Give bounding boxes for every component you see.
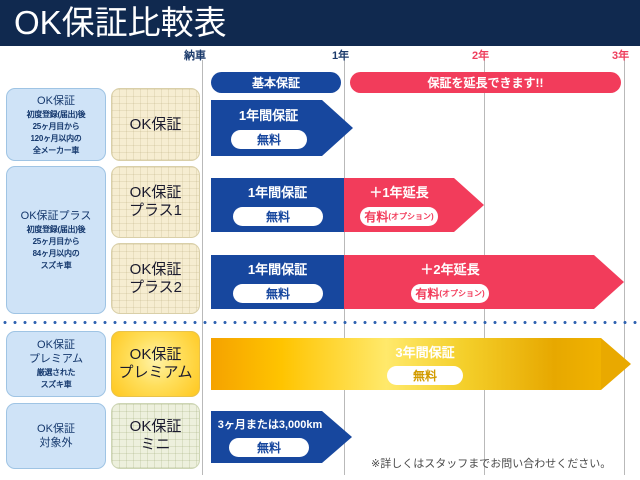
footnote-text: ※詳しくはスタッフまでお問い合わせください。 <box>371 455 611 471</box>
bar-chip-text-free-plus1: 無料 <box>266 208 290 225</box>
category-cond-plus-2: 25ヶ月目から <box>33 237 80 247</box>
bar-chip-paid-plus2: 有料(オプション) <box>411 284 489 303</box>
bar-label-free-plus1: 1年間保証 <box>211 185 344 200</box>
plan-name-ok-1: OK保証 <box>130 116 182 134</box>
plan-box-mini: OK保証 ミニ <box>111 403 200 469</box>
category-name-plus: OK保証プラス <box>21 209 92 223</box>
plan-box-plus1: OK保証 プラス1 <box>111 166 200 238</box>
bar-chip-paid-plus1: 有料(オプション) <box>360 207 438 226</box>
plan-name-mini-2: ミニ <box>140 436 170 454</box>
bar-chip-opt-plus2: (オプション) <box>439 288 484 299</box>
page-title: OK保証比較表 <box>14 4 227 42</box>
category-cond-plus-1: 初度登録(届出)後 <box>27 225 86 235</box>
axis-label-delivery: 納車 <box>184 47 206 63</box>
bar-chip-opt-plus1: (オプション) <box>388 211 433 222</box>
category-box-ok: OK保証 初度登録(届出)後 25ヶ月目から 120ヶ月以内の 全メーカー車 <box>6 88 106 161</box>
plan-box-ok: OK保証 <box>111 88 200 161</box>
bar-chip-free-plus1: 無料 <box>233 207 323 226</box>
legend-extend-warranty: 保証を延長できます!! <box>350 72 621 93</box>
plan-name-plus1-1: OK保証 <box>130 184 182 202</box>
plan-box-plus2: OK保証 プラス2 <box>111 243 200 314</box>
bar-arrowhead-plus2 <box>594 255 624 309</box>
category-name-excluded-1: OK保証 <box>37 422 75 436</box>
bar-label-paid-plus2: ＋2年延長 <box>390 262 510 277</box>
category-cond-premium-2: スズキ車 <box>41 380 72 390</box>
bar-chip-free-ok: 無料 <box>231 130 307 149</box>
axis-label-year2: 2年 <box>472 47 489 63</box>
bar-label-paid-plus1: ＋1年延長 <box>344 185 454 200</box>
plan-name-premium-2: プレミアム <box>119 364 193 382</box>
bar-chip-free-mini: 無料 <box>229 438 309 457</box>
bar-chip-text-paid-plus1: 有料 <box>364 208 388 225</box>
category-box-excluded: OK保証 対象外 <box>6 403 106 469</box>
category-box-premium: OK保証 プレミアム 厳選された スズキ車 <box>6 331 106 397</box>
section-divider <box>0 321 640 324</box>
legend-basic-warranty: 基本保証 <box>211 72 341 93</box>
category-cond-plus-4: スズキ車 <box>41 261 72 271</box>
plan-name-plus1-2: プラス1 <box>129 202 182 220</box>
bar-arrowhead-ok <box>322 100 353 156</box>
plan-name-plus2-1: OK保証 <box>130 261 182 279</box>
bar-arrowhead-premium <box>601 338 631 390</box>
category-cond-ok-4: 全メーカー車 <box>33 146 79 156</box>
category-name-premium-1: OK保証 <box>37 338 75 352</box>
bar-chip-premium: 無料 <box>387 366 463 385</box>
category-name-excluded-2: 対象外 <box>40 436 73 450</box>
plan-name-plus2-2: プラス2 <box>129 279 182 297</box>
plan-box-premium: OK保証 プレミアム <box>111 331 200 397</box>
category-name-premium-2: プレミアム <box>29 352 83 366</box>
category-cond-premium-1: 厳選された <box>37 368 76 378</box>
category-cond-plus-3: 84ヶ月以内の <box>33 249 80 259</box>
category-box-plus: OK保証プラス 初度登録(届出)後 25ヶ月目から 84ヶ月以内の スズキ車 <box>6 166 106 314</box>
category-name-ok: OK保証 <box>37 94 75 108</box>
bar-label-free-mini: 3ヶ月または3,000km <box>211 418 329 433</box>
plan-name-mini-1: OK保証 <box>130 418 182 436</box>
bar-chip-free-plus2: 無料 <box>233 284 323 303</box>
bar-label-premium: 3年間保証 <box>370 345 480 360</box>
category-cond-ok-2: 25ヶ月目から <box>33 122 80 132</box>
plan-name-premium-1: OK保証 <box>130 346 182 364</box>
bar-label-free-ok: 1年間保証 <box>211 108 326 123</box>
bar-chip-text-free-mini: 無料 <box>257 439 281 456</box>
bar-arrowhead-plus1 <box>454 178 484 232</box>
gridline-delivery <box>202 60 203 475</box>
category-cond-ok-1: 初度登録(届出)後 <box>27 110 86 120</box>
bar-chip-text-free-ok: 無料 <box>257 131 281 148</box>
warranty-comparison-chart: OK保証比較表 納車 1年 2年 3年 基本保証 保証を延長できます!! OK保… <box>0 0 640 480</box>
bar-chip-text-free-plus2: 無料 <box>266 285 290 302</box>
bar-label-free-plus2: 1年間保証 <box>211 262 344 277</box>
axis-label-year1: 1年 <box>332 47 349 63</box>
page-header: OK保証比較表 <box>0 0 640 46</box>
category-cond-ok-3: 120ヶ月以内の <box>31 134 82 144</box>
bar-chip-text-premium: 無料 <box>413 367 437 384</box>
bar-chip-text-paid-plus2: 有料 <box>415 285 439 302</box>
axis-label-year3: 3年 <box>612 47 629 63</box>
